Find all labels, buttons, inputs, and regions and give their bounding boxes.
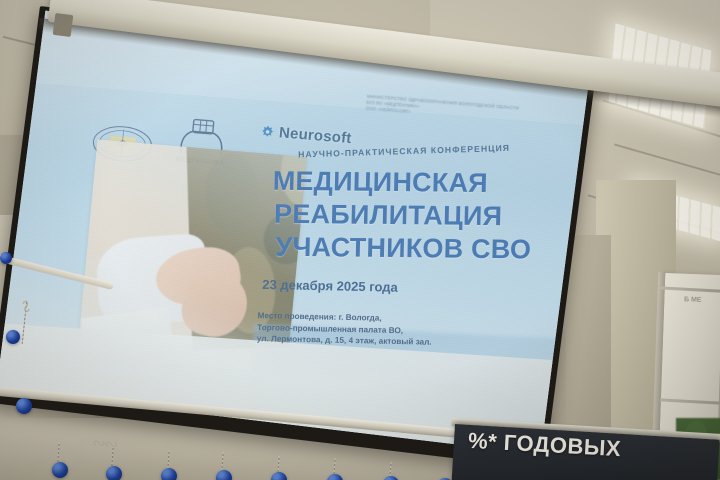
- neurosoft-logo: Neurosoft: [260, 123, 352, 147]
- title-line-2: РЕАБИЛИТАЦИЯ: [274, 198, 590, 234]
- slide-venue: Место проведения: г. Вологда, Торгово-пр…: [257, 310, 588, 352]
- ornament: [6, 330, 20, 344]
- neurosoft-mark-icon: [261, 125, 275, 139]
- ornament: [161, 468, 177, 480]
- ornament: [106, 466, 122, 480]
- ornament: [16, 398, 32, 414]
- screen-roller-endcap: [53, 13, 74, 37]
- title-line-3: УЧАСТНИКОВ СВО: [275, 231, 590, 267]
- slide-title: МЕДИЦИНСКАЯ РЕАБИЛИТАЦИЯ УЧАСТНИКОВ СВО: [271, 165, 590, 267]
- neurosoft-label: Neurosoft: [278, 124, 352, 147]
- rollup-banner-text: Б МЕ: [684, 295, 720, 306]
- ornament: [52, 462, 68, 478]
- slide-date: 23 декабря 2025 года: [262, 277, 398, 295]
- ornament: [0, 252, 12, 264]
- conference-room-photo: МИНИСТЕРСТВО ЗДРАВООХРАНЕНИЯ ВОЛОГОДСКОЙ…: [0, 0, 720, 480]
- ornament: [216, 470, 232, 480]
- title-line-1: МЕДИЦИНСКАЯ: [272, 165, 589, 201]
